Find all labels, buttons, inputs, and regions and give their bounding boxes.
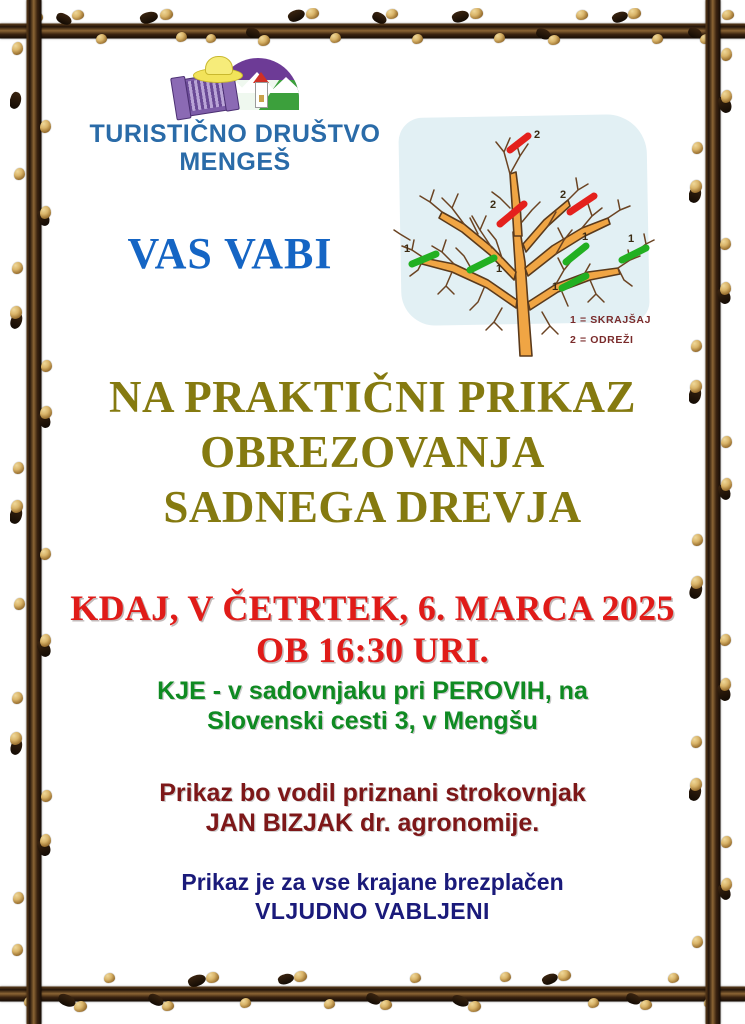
mark-label-1: 1 <box>628 233 634 245</box>
legend-item-cut: 2 = ODREŽI <box>570 334 633 346</box>
mark-label-2: 2 <box>534 129 540 141</box>
poster-headline: NA PRAKTIČNI PRIKAZ OBREZOVANJA SADNEGA … <box>56 370 689 535</box>
border-twig-left <box>10 0 58 1024</box>
mark-label-2: 2 <box>490 199 496 211</box>
event-time-line: OB 16:30 URI. <box>56 630 689 672</box>
event-location-line1: KJE - v sadovnjaku pri PEROVIH, na <box>56 676 689 706</box>
mark-label-1: 1 <box>496 263 502 275</box>
invitation-text: VAS VABI <box>80 228 380 279</box>
border-twig-top <box>0 8 745 54</box>
event-date-line: KDAJ, V ČETRTEK, 6. MARCA 2025 <box>56 588 689 630</box>
twig-shaft <box>0 24 745 39</box>
straw-hat-icon <box>193 56 241 82</box>
logo-name-line1: TURISTIČNO DRUŠTVO <box>80 122 390 148</box>
event-datetime: KDAJ, V ČETRTEK, 6. MARCA 2025 OB 16:30 … <box>56 588 689 672</box>
twig-shaft <box>706 0 721 1024</box>
headline-line3: SADNEGA DREVJA <box>56 480 689 535</box>
poster-footer-note: Prikaz je za vse krajane brezplačen VLJU… <box>56 868 689 926</box>
event-presenter: Prikaz bo vodil priznani strokovnjak JAN… <box>56 778 689 838</box>
logo-name-line2: MENGEŠ <box>80 148 390 177</box>
border-twig-bottom <box>0 970 745 1018</box>
event-poster: TURISTIČNO DRUŠTVO MENGEŠ VAS VABI <box>0 0 745 1024</box>
fruit-tree-pruning-diagram: 2 2 2 1 1 1 1 1 1 = SKRAJŠAJ 2 = ODREŽI <box>392 112 660 362</box>
event-location-line2: Slovenski cesti 3, v Mengšu <box>56 706 689 736</box>
headline-line2: OBREZOVANJA <box>56 425 689 480</box>
logo-mark-icon <box>171 58 299 118</box>
border-twig-right <box>689 0 737 1024</box>
mark-label-1: 1 <box>552 281 558 293</box>
organization-logo: TURISTIČNO DRUŠTVO MENGEŠ <box>80 58 390 176</box>
presenter-line2: JAN BIZJAK dr. agronomije. <box>56 808 689 838</box>
twig-shaft <box>27 0 42 1024</box>
footer-line1: Prikaz je za vse krajane brezplačen <box>56 868 689 897</box>
mark-label-2: 2 <box>560 189 566 201</box>
chapel-window-icon <box>259 95 264 102</box>
event-location: KJE - v sadovnjaku pri PEROVIH, na Slove… <box>56 676 689 736</box>
headline-line1: NA PRAKTIČNI PRIKAZ <box>56 370 689 425</box>
footer-line2: VLJUDNO VABLJENI <box>56 897 689 926</box>
mark-label-1: 1 <box>582 231 588 243</box>
presenter-line1: Prikaz bo vodil priznani strokovnjak <box>56 778 689 808</box>
mark-label-1: 1 <box>404 243 410 255</box>
legend-item-shorten: 1 = SKRAJŠAJ <box>570 314 651 326</box>
